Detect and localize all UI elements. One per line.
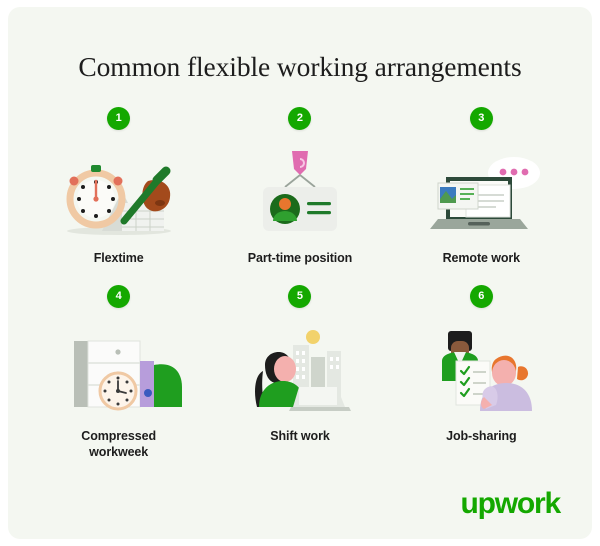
arrangement-label-3: Remote work	[443, 251, 520, 267]
two-people-checklist-icon	[416, 325, 546, 417]
infographic-card: Common flexible working arrangements 1	[8, 7, 592, 539]
step-badge-5: 5	[288, 285, 311, 308]
arrangement-label-6: Job-sharing	[446, 429, 516, 445]
id-badge-icon	[235, 147, 365, 239]
arrangement-item-2: 2 Part-time position	[209, 107, 390, 267]
step-badge-3: 3	[470, 107, 493, 130]
arrangement-label-2: Part-time position	[248, 251, 352, 267]
laptop-chat-bubble-icon	[416, 147, 546, 239]
arrangement-item-5: 5	[209, 285, 390, 460]
step-badge-1: 1	[107, 107, 130, 130]
arrangement-item-6: 6	[391, 285, 572, 460]
stopwatch-violin-calendar-icon: x	[54, 147, 184, 239]
page-title: Common flexible working arrangements	[8, 51, 592, 83]
arrangement-label-5: Shift work	[270, 429, 329, 445]
step-badge-4: 4	[107, 285, 130, 308]
step-badge-2: 2	[288, 107, 311, 130]
arrangement-item-4: 4	[28, 285, 209, 460]
arrangement-label-1: Flextime	[94, 251, 144, 267]
filing-cabinet-clock-icon	[54, 325, 184, 417]
arrangement-item-3: 3	[391, 107, 572, 267]
step-badge-6: 6	[470, 285, 493, 308]
arrangements-grid-row-2: 4	[28, 275, 572, 460]
arrangements-grid-row-1: 1 x	[28, 107, 572, 267]
upwork-logo: upwork	[461, 489, 560, 519]
arrangement-item-1: 1 x	[28, 107, 209, 267]
arrangement-label-4: Compressed workweek	[59, 429, 179, 460]
night-worker-laptop-icon	[235, 325, 365, 417]
